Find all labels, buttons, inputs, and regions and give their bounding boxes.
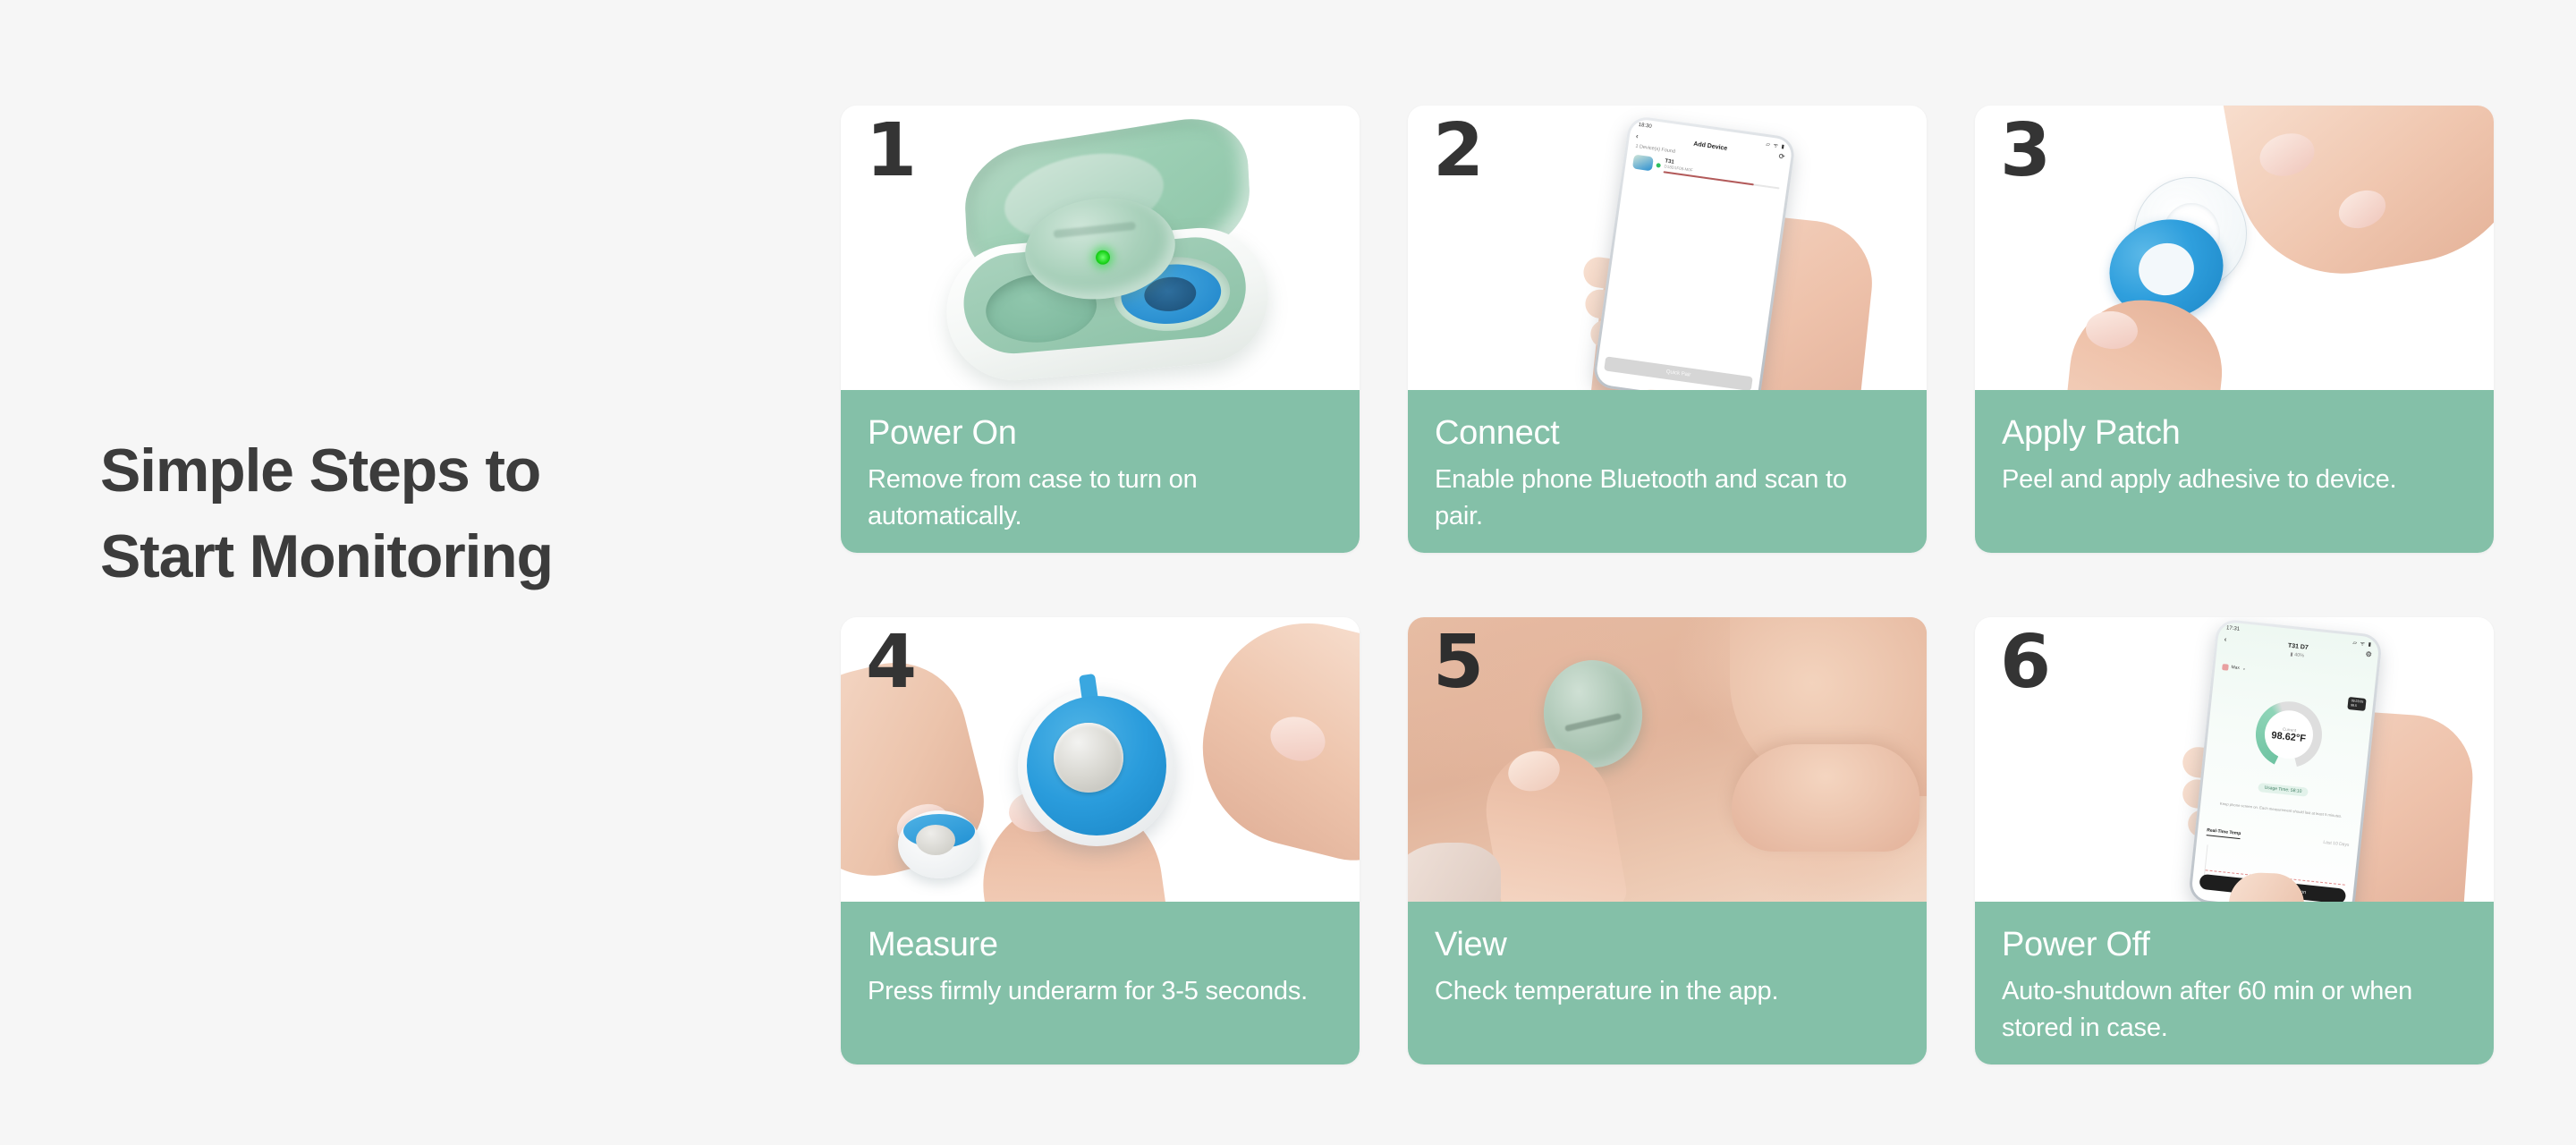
gauge-reading: 98.62°F (2271, 730, 2307, 744)
step-card-3[interactable]: 3 Apply Patch Peel and apply adhesive to… (1975, 106, 2494, 553)
step-2-title: Connect (1435, 413, 1900, 453)
back-icon[interactable]: ‹ (1635, 132, 1639, 140)
step-3-number: 3 (2000, 114, 2050, 188)
step-6-description: Auto-shutdown after 60 min or when store… (2002, 973, 2467, 1047)
step-4-description: Press firmly underarm for 3-5 seconds. (868, 973, 1333, 1010)
avatar (2222, 664, 2229, 671)
page-title-line-2: Start Monitoring (100, 513, 780, 599)
temperature-gauge-value: Current 98.62°F (2252, 699, 2325, 771)
step-5-photo: 5 (1408, 617, 1927, 902)
step-2-number: 2 (1433, 114, 1483, 188)
step-1-title: Power On (868, 413, 1333, 453)
step-6-photo: 6 17:31 ▱ ᯤ ▮ ‹ (1975, 617, 2494, 902)
step-1-description: Remove from case to turn on automaticall… (868, 462, 1333, 535)
refresh-icon[interactable]: ⟳ (1778, 152, 1785, 161)
hand-phone-pairing-illustration: 18:30 ▱ ᯤ ▮ ‹ Add Device ⟳ 1 Device(s) F… (1408, 106, 1927, 390)
power-led-icon (1095, 250, 1111, 266)
step-1-band: Power On Remove from case to turn on aut… (841, 390, 1360, 553)
step-1-number: 1 (866, 114, 916, 188)
back-icon[interactable]: ‹ (2224, 635, 2227, 643)
pairing-screen-title: Add Device (1693, 141, 1728, 152)
step-3-title: Apply Patch (2002, 413, 2467, 453)
charging-case-illustration (841, 106, 1360, 390)
step-3-photo: 3 (1975, 106, 2494, 390)
device-online-dot-icon (1656, 163, 1661, 168)
page-title-line-1: Simple Steps to (100, 428, 780, 513)
step-5-title: View (1435, 925, 1900, 964)
profile-name: Max (2231, 665, 2240, 671)
steps-grid: 1 (841, 106, 2494, 1064)
step-4-number: 4 (866, 626, 916, 700)
quick-pair-button[interactable]: Quick Pair (1604, 356, 1753, 390)
step-card-1[interactable]: 1 (841, 106, 1360, 553)
step-2-band: Connect Enable phone Bluetooth and scan … (1408, 390, 1927, 553)
temp-screen-title: T31 D7 (2287, 643, 2309, 651)
step-6-title: Power Off (2002, 925, 2467, 964)
fingers-peeling-patch-illustration (1975, 106, 2494, 390)
step-6-number: 6 (2000, 626, 2050, 700)
gear-icon[interactable]: ⚙ (2365, 650, 2372, 659)
temp-status-time: 17:31 (2226, 625, 2241, 634)
step-card-2[interactable]: 2 18:30 ▱ ᯤ ▮ ‹ (1408, 106, 1927, 553)
hand-phone-temperature-illustration: 17:31 ▱ ᯤ ▮ ‹ T31 D7 ⚙ ▮ 40% (1975, 617, 2494, 902)
step-5-description: Check temperature in the app. (1435, 973, 1900, 1010)
chart-tooltip: 09:23:05 98.5 (2348, 697, 2367, 711)
step-4-band: Measure Press firmly underarm for 3-5 se… (841, 902, 1360, 1064)
chevron-down-icon: ⌄ (2242, 666, 2247, 672)
device-thumbnail-icon (1632, 155, 1654, 172)
usage-time-chip: Usage Time: 58:10 (2258, 783, 2309, 797)
baby-underarm-sensor-illustration (1408, 617, 1927, 902)
page-title: Simple Steps to Start Monitoring (100, 428, 780, 599)
step-2-photo: 2 18:30 ▱ ᯤ ▮ ‹ (1408, 106, 1927, 390)
temperature-app-screen: 17:31 ▱ ᯤ ▮ ‹ T31 D7 ⚙ ▮ 40% (2190, 621, 2380, 902)
step-5-number: 5 (1433, 626, 1483, 700)
step-4-photo: 4 (841, 617, 1360, 902)
step-card-4[interactable]: 4 (841, 617, 1360, 1064)
step-2-description: Enable phone Bluetooth and scan to pair. (1435, 462, 1900, 535)
step-6-band: Power Off Auto-shutdown after 60 min or … (1975, 902, 2494, 1064)
steps-infographic: Simple Steps to Start Monitoring 1 (0, 0, 2576, 1145)
step-card-5[interactable]: 5 View Check temperature in the app. (1408, 617, 1927, 1064)
step-4-title: Measure (868, 925, 1333, 964)
measurement-hint: Keep phone screen on. Each measurement s… (2209, 800, 2352, 820)
step-1-photo: 1 (841, 106, 1360, 390)
step-5-band: View Check temperature in the app. (1408, 902, 1927, 1064)
step-3-band: Apply Patch Peel and apply adhesive to d… (1975, 390, 2494, 553)
step-3-description: Peel and apply adhesive to device. (2002, 462, 2467, 498)
tab-last-10-days[interactable]: Last 10 Days (2323, 840, 2350, 851)
step-card-6[interactable]: 6 17:31 ▱ ᯤ ▮ ‹ (1975, 617, 2494, 1064)
profile-selector[interactable]: Max ⌄ (2222, 664, 2246, 673)
hands-applying-patch-illustration (841, 617, 1360, 902)
pairing-app-screen: 18:30 ▱ ᯤ ▮ ‹ Add Device ⟳ 1 Device(s) F… (1595, 118, 1793, 390)
tab-real-time-temp[interactable]: Real-Time Temp (2207, 827, 2241, 839)
